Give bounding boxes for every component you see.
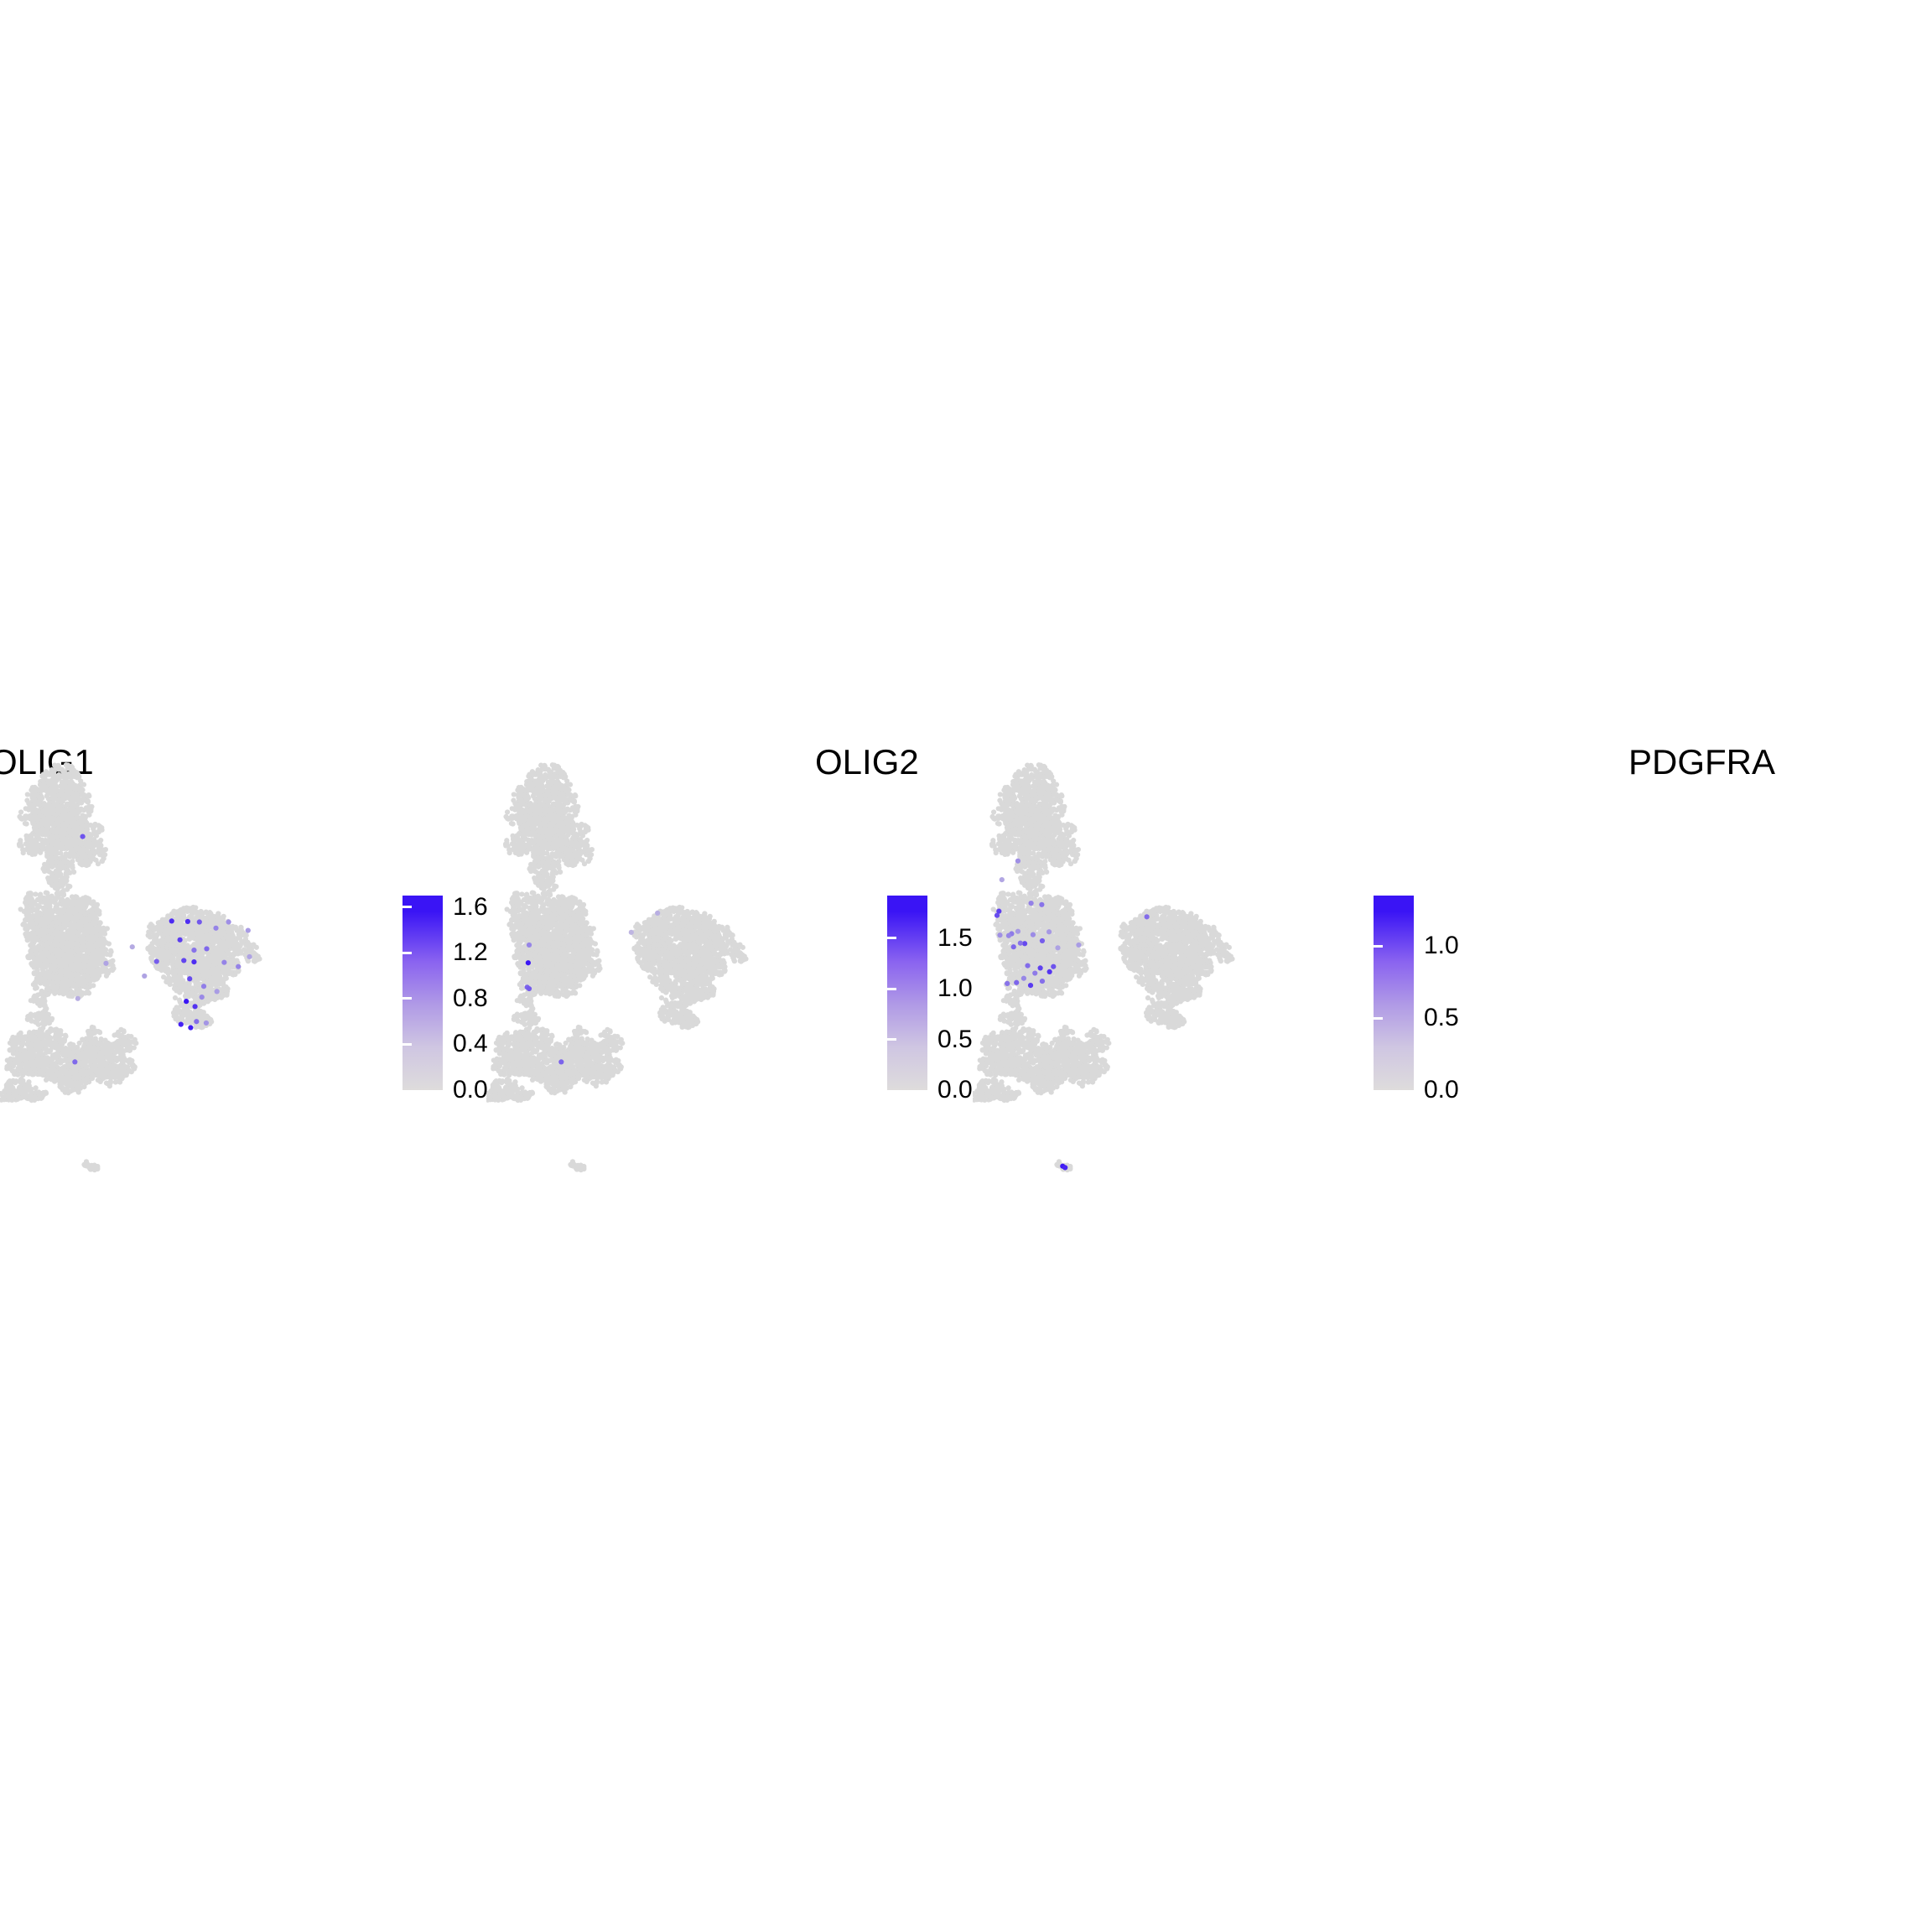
cell-point: [1006, 933, 1011, 938]
colorbar-tick: [393, 1043, 402, 1046]
cell-point: [527, 943, 532, 948]
cell-point: [1046, 929, 1052, 934]
nonexpressing-cells: [973, 762, 1235, 1172]
panel-title: PDGFRA: [1628, 745, 1775, 780]
cell-point: [200, 995, 205, 1000]
cell-point: [226, 919, 231, 924]
colorbar-tick-label: 0.8: [453, 986, 488, 1011]
cell-point: [221, 960, 226, 965]
cell-point: [1031, 932, 1036, 937]
colorbar-tick: [393, 997, 402, 1000]
cell-point: [1076, 943, 1081, 948]
colorbar-tick: [393, 906, 402, 908]
cell-point: [191, 948, 196, 953]
cell-point: [204, 946, 209, 951]
cell-point: [75, 996, 80, 1001]
cell-point: [1040, 979, 1045, 984]
cell-point: [629, 930, 634, 935]
cell-point: [181, 958, 186, 963]
colorbar-tick-label: 0.5: [937, 1027, 973, 1052]
cell-point: [1032, 970, 1037, 975]
cell-point: [1040, 938, 1045, 943]
colorbar-tick: [878, 937, 887, 939]
cell-point: [1055, 945, 1060, 950]
colorbar-tick-label: 1.6: [453, 895, 488, 920]
cell-point: [72, 1059, 77, 1064]
colorbar-gradient: [402, 896, 443, 1090]
colorbar-tick: [402, 906, 412, 908]
cell-point: [1025, 963, 1030, 969]
cell-point: [1028, 983, 1033, 988]
colorbar-tick-label: 0.4: [453, 1031, 488, 1057]
colorbar-tick: [887, 1038, 896, 1041]
cell-point: [197, 919, 202, 924]
colorbar-tick: [887, 937, 896, 939]
cell-point: [995, 913, 1000, 918]
cell-point: [188, 1025, 193, 1030]
cell-point: [1051, 964, 1056, 969]
cell-point: [1029, 901, 1034, 906]
colorbar-tick: [1374, 1017, 1383, 1020]
colorbar-tick: [878, 988, 887, 990]
cell-point: [1022, 941, 1027, 946]
nonexpressing-cells: [486, 762, 749, 1172]
cell-point: [1038, 965, 1043, 970]
cell-point: [247, 954, 252, 959]
cell-point: [1015, 929, 1021, 934]
colorbar-tick: [393, 952, 402, 954]
cell-point: [201, 984, 206, 989]
cell-point: [558, 1059, 563, 1064]
colorbar-tick-label: 0.0: [1424, 1078, 1459, 1103]
colorbar-tick: [402, 952, 412, 954]
cell-point: [178, 937, 183, 943]
cell-point: [1005, 981, 1010, 986]
cell-point: [204, 1021, 209, 1026]
cell-point: [179, 1022, 184, 1027]
colorbar-tick: [887, 988, 896, 990]
cell-point: [1015, 859, 1021, 864]
cell-point: [1039, 902, 1044, 907]
cell-point: [1014, 980, 1019, 985]
cell-point: [1062, 1165, 1067, 1170]
cell-point: [215, 989, 220, 994]
cell-point: [185, 919, 190, 924]
cell-point: [192, 1004, 197, 1009]
colorbar-tick-label: 0.0: [937, 1078, 973, 1103]
cell-point: [184, 999, 189, 1004]
colorbar-tick: [402, 1043, 412, 1046]
colorbar-tick: [878, 1038, 887, 1041]
cell-point: [246, 928, 251, 933]
colorbar-tick: [1374, 945, 1383, 948]
cell-point: [1000, 877, 1005, 882]
cell-point: [997, 932, 1002, 937]
cell-point: [1047, 969, 1052, 974]
cell-point: [191, 959, 196, 964]
colorbar-tick-label: 1.2: [453, 940, 488, 965]
cell-point: [526, 960, 531, 965]
colorbar-tick-label: 1.0: [937, 976, 973, 1001]
cell-point: [130, 944, 135, 949]
cell-point: [1018, 941, 1023, 946]
cell-point: [187, 976, 192, 981]
nonexpressing-cells: [0, 762, 262, 1172]
cell-point: [194, 1019, 199, 1024]
colorbar-gradient: [1374, 896, 1414, 1090]
cell-point: [236, 964, 241, 969]
colorbar-tick: [1364, 945, 1374, 948]
colorbar-tick-label: 0.5: [1424, 1005, 1459, 1031]
cell-point: [80, 834, 86, 839]
cell-point: [655, 911, 660, 916]
colorbar-tick: [402, 997, 412, 1000]
colorbar-tick-label: 1.0: [1424, 933, 1459, 958]
colorbar-tick-label: 0.0: [453, 1078, 488, 1103]
cell-point: [169, 918, 174, 923]
cell-point: [142, 974, 147, 979]
cell-point: [213, 926, 218, 931]
cell-point: [1021, 976, 1026, 981]
feature-plot-figure: OLIG1 OLIG2 PDGFRA 1.61.20.80.40.0 1.51.…: [0, 0, 1932, 1932]
cell-point: [527, 986, 532, 991]
cell-point: [154, 958, 159, 963]
colorbar-gradient: [887, 896, 927, 1090]
cell-point: [103, 961, 108, 966]
colorbar-tick: [1364, 1017, 1374, 1020]
cell-point: [1145, 914, 1150, 919]
cell-point: [1011, 944, 1016, 949]
colorbar-tick-label: 1.5: [937, 926, 973, 951]
